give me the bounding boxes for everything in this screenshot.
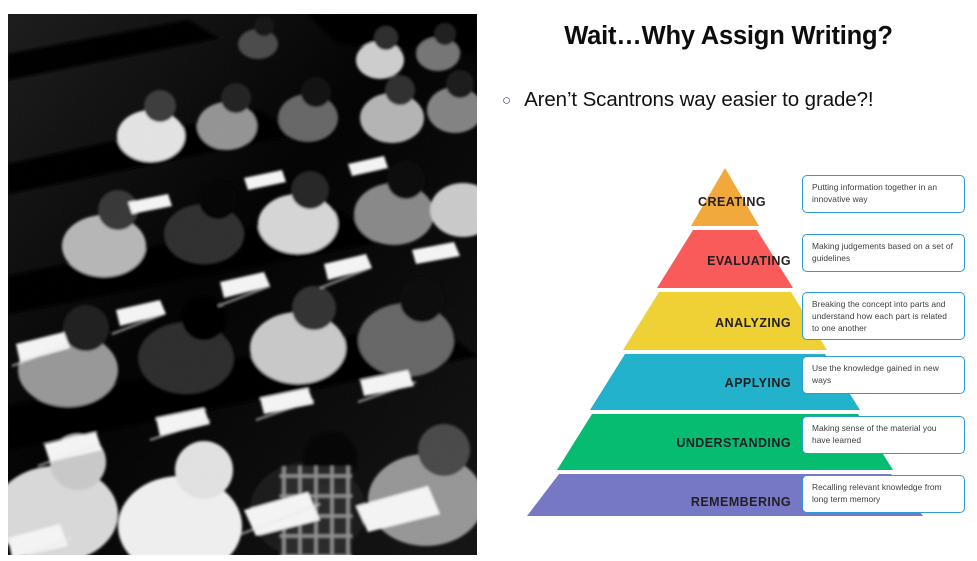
pyramid-callout-analyzing-text: Breaking the concept into parts and unde… xyxy=(812,299,956,335)
pyramid-callout-applying-text: Use the knowledge gained in new ways xyxy=(812,363,956,387)
pyramid-callout-creating-text: Putting information together in an innov… xyxy=(812,182,956,206)
pyramid-callout-understanding-text: Making sense of the material you have le… xyxy=(812,423,956,447)
pyramid-label-applying: APPLYING xyxy=(725,376,791,390)
pyramid-label-creating: CREATING xyxy=(698,195,766,209)
pyramid-callout-evaluating-text: Making judgements based on a set of guid… xyxy=(812,241,956,265)
pyramid-callout-remembering: Recalling relevant knowledge from long t… xyxy=(802,475,965,513)
blooms-taxonomy-pyramid: CREATING EVALUATING ANALYZING APPLYING U… xyxy=(502,160,977,530)
pyramid-callout-understanding: Making sense of the material you have le… xyxy=(802,416,965,454)
pyramid-callout-applying: Use the knowledge gained in new ways xyxy=(802,356,965,394)
pyramid-callout-remembering-text: Recalling relevant knowledge from long t… xyxy=(812,482,956,506)
bullet-item: ○ Aren’t Scantrons way easier to grade?! xyxy=(502,88,874,112)
pyramid-label-evaluating: EVALUATING xyxy=(707,254,791,268)
bullet-circle-icon: ○ xyxy=(502,93,511,108)
pyramid-callout-evaluating: Making judgements based on a set of guid… xyxy=(802,234,965,272)
exam-hall-photo-canvas xyxy=(8,14,477,555)
pyramid-label-remembering: REMEMBERING xyxy=(691,495,791,509)
exam-hall-photo xyxy=(8,14,477,555)
page-title: Wait…Why Assign Writing? xyxy=(480,22,977,51)
pyramid-label-analyzing: ANALYZING xyxy=(715,316,791,330)
pyramid-callout-creating: Putting information together in an innov… xyxy=(802,175,965,213)
slide-content-pane: Wait…Why Assign Writing? ○ Aren’t Scantr… xyxy=(480,0,977,561)
pyramid-callout-analyzing: Breaking the concept into parts and unde… xyxy=(802,292,965,340)
pyramid-label-understanding: UNDERSTANDING xyxy=(676,436,791,450)
bullet-item-text: Aren’t Scantrons way easier to grade?! xyxy=(524,88,873,112)
